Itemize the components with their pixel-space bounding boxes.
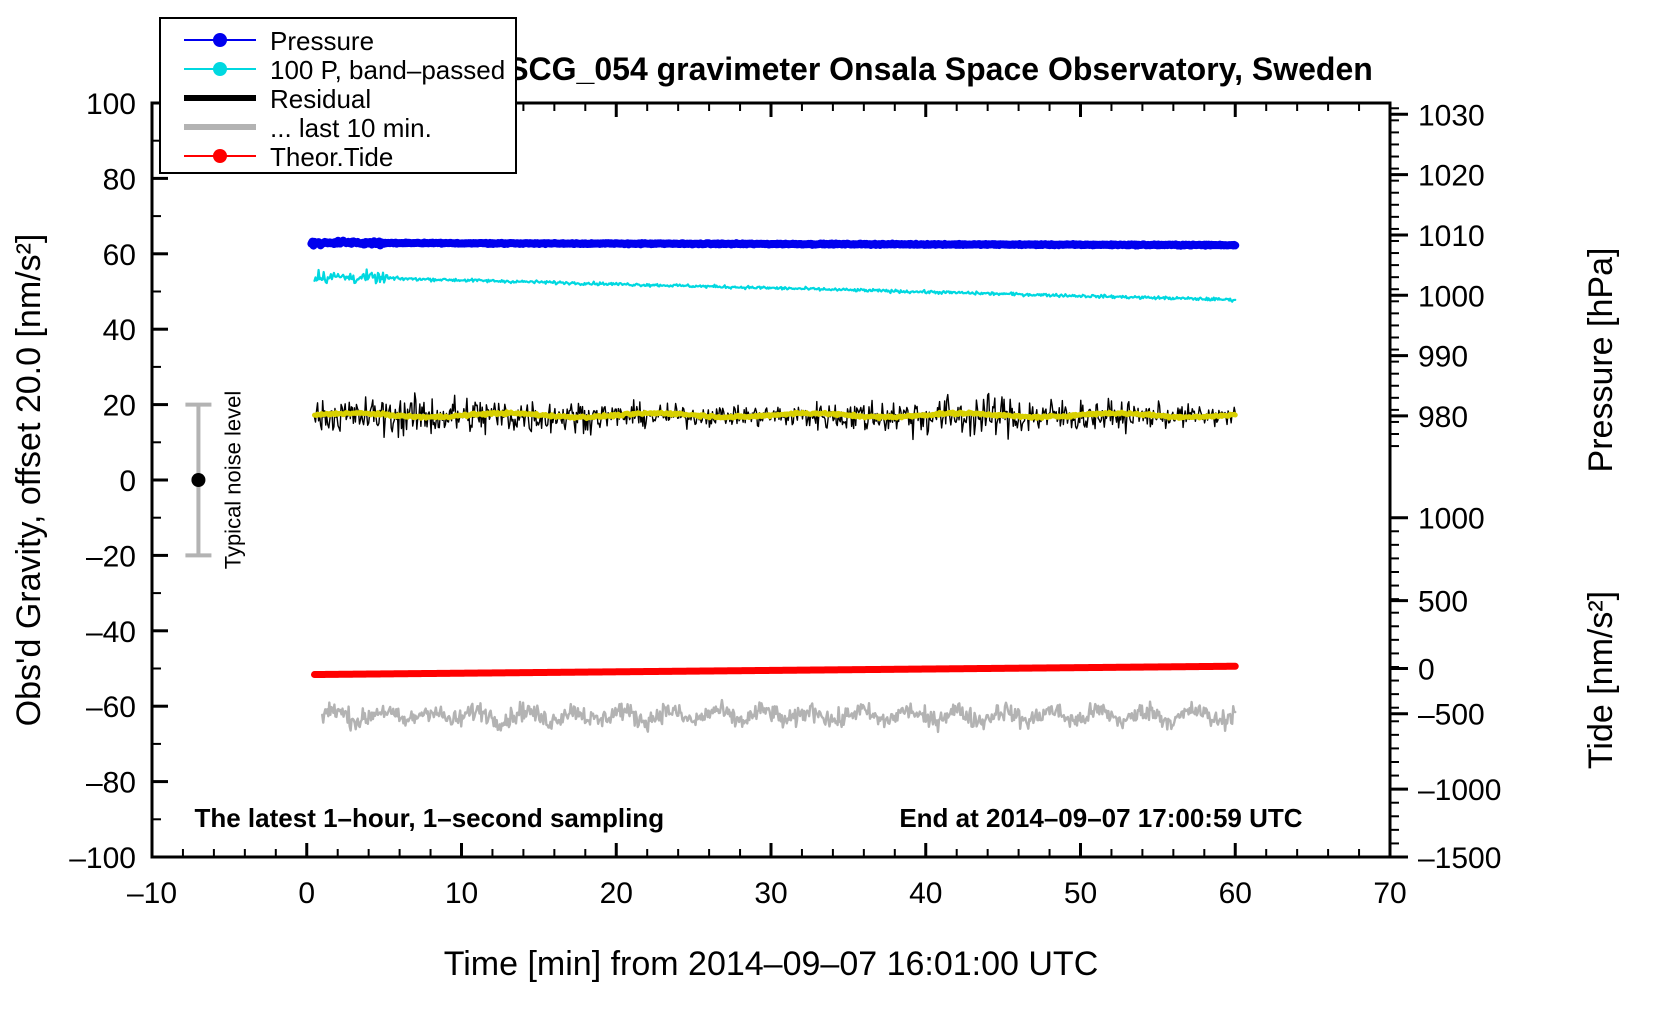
pressure-tick-label: 1020 [1418,160,1485,193]
tide-tick-label: 500 [1418,586,1468,619]
legend-label-pressure: Pressure [270,26,374,56]
legend-label-theor-tide: Theor.Tide [270,142,393,172]
x-tick-label: 0 [298,877,315,910]
y-tick-label: 20 [103,390,136,423]
pressure-axis-title: Pressure [hPa] [1582,248,1620,473]
x-tick-label: 50 [1064,877,1097,910]
legend-label-last-10-min: ... last 10 min. [270,113,432,143]
legend-swatch-marker [213,149,227,163]
gravimeter-chart-figure: –10010203040506070–100–80–60–40–20020406… [0,0,1660,1020]
pressure-tick-label: 980 [1418,401,1468,434]
x-tick-label: 40 [909,877,942,910]
legend-label-residual: Residual [270,84,371,114]
series-line-pressure [311,241,1235,246]
x-tick-label: 20 [600,877,633,910]
series-line-theor-tide [314,666,1235,674]
tide-axis-title: Tide [nm/s²] [1582,591,1620,769]
pressure-tick-label: 990 [1418,341,1468,374]
series-line-last-10-min [322,700,1235,732]
y-tick-label: 100 [86,88,136,121]
pressure-tick-label: 1000 [1418,280,1485,313]
tide-tick-label: 1000 [1418,503,1485,536]
y-tick-label: 40 [103,314,136,347]
x-tick-label: 60 [1219,877,1252,910]
legend-swatch-marker [213,62,227,76]
x-axis-title: Time [min] from 2014–09–07 16:01:00 UTC [444,945,1099,983]
y-tick-label: –20 [86,540,136,573]
legend-swatch-marker [213,33,227,47]
sampling-note: The latest 1–hour, 1–second sampling [194,803,664,833]
y-axis-title: Obs'd Gravity, offset 20.0 [nm/s²] [10,234,48,727]
tide-tick-label: –500 [1418,699,1485,732]
noise-bar-label: Typical noise level [220,391,245,570]
y-tick-label: –100 [69,842,136,875]
end-time-note: End at 2014–09–07 17:00:59 UTC [899,803,1302,833]
pressure-tick-label: 1010 [1418,220,1485,253]
x-tick-label: –10 [127,877,177,910]
plot-frame [152,103,1390,857]
x-tick-label: 10 [445,877,478,910]
tide-tick-label: –1000 [1418,774,1501,807]
y-tick-label: –80 [86,767,136,800]
tide-tick-label: –1500 [1418,842,1501,875]
x-tick-label: 30 [754,877,787,910]
chart-canvas: –10010203040506070–100–80–60–40–20020406… [0,0,1660,1020]
noise-bar-center-dot [191,473,205,487]
y-tick-label: –60 [86,691,136,724]
x-tick-label: 70 [1373,877,1406,910]
tide-tick-label: 0 [1418,654,1435,687]
legend-label-100-p-band-passed: 100 P, band–passed [270,55,505,85]
chart-title: SCG_054 gravimeter Onsala Space Observat… [507,51,1373,87]
series-line-100-p-band-passed [314,270,1235,302]
y-tick-label: 80 [103,163,136,196]
y-tick-label: –40 [86,616,136,649]
y-tick-label: 60 [103,239,136,272]
y-tick-label: 0 [119,465,136,498]
pressure-tick-label: 1030 [1418,99,1485,132]
